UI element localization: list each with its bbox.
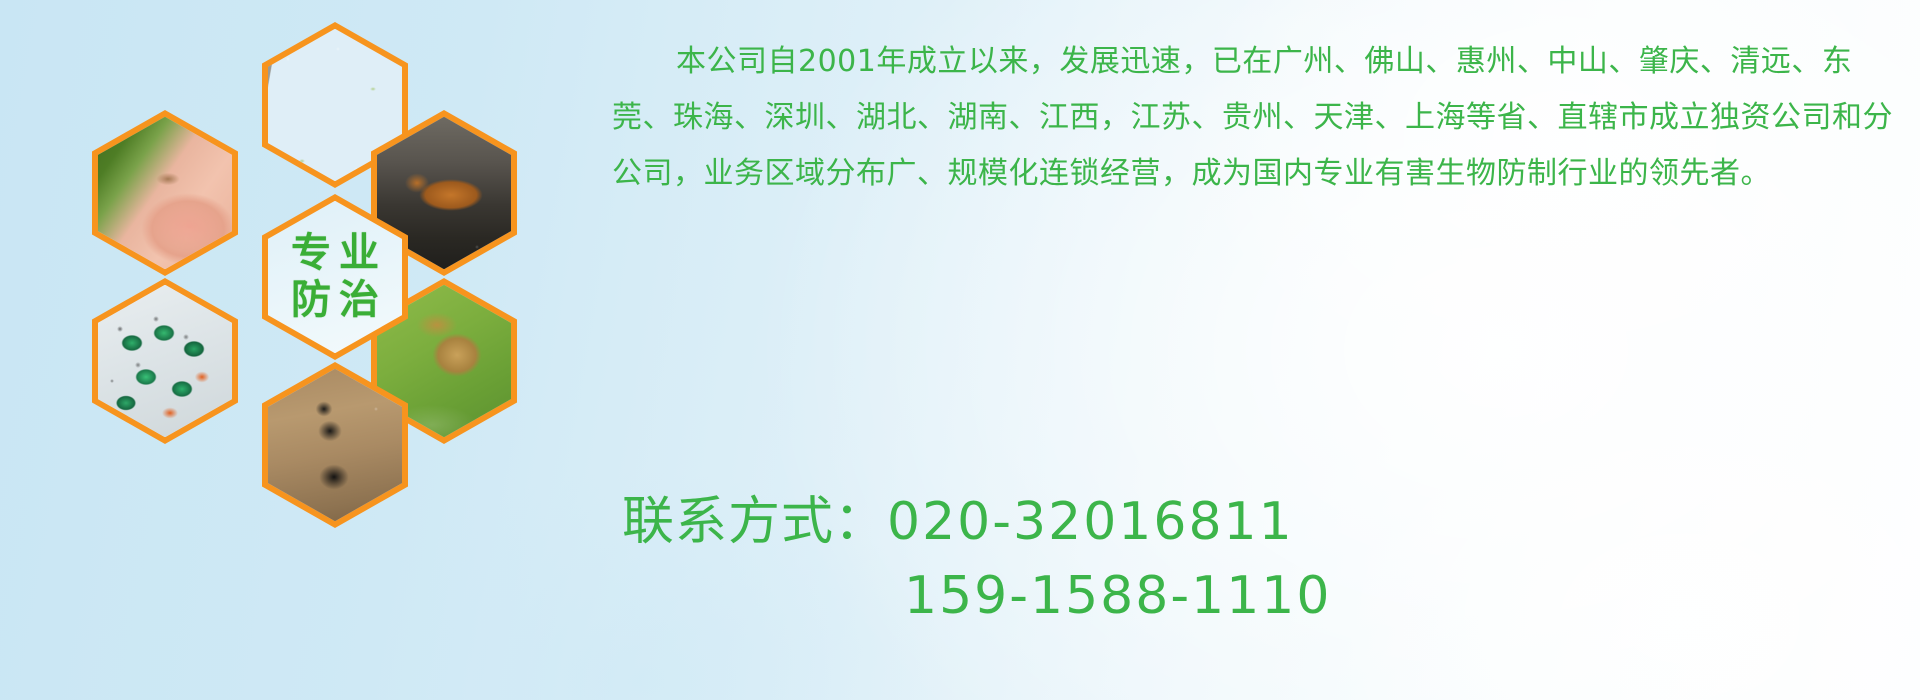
promo-banner: 专业 防治 本公司自2001年成立以来，发展迅速，已在广州、佛山、惠州、中山、肇… [0,0,1920,700]
hex-cell-mosquito [92,110,238,276]
hex-inner-center-title: 专业 防治 [268,201,402,353]
contact-line-mobile: 159-1588-1110 [622,559,1822,633]
contact-block: 联系方式：020-32016811 159-1588-1110 [622,485,1822,633]
contact-label: 联系方式： [622,492,887,552]
flies-photo [98,285,232,437]
center-title-line-1: 专业 [283,230,387,277]
intro-copy-block: 本公司自2001年成立以来，发展迅速，已在广州、佛山、惠州、中山、肇庆、清远、东… [612,34,1908,202]
hex-inner-ant [268,369,402,521]
center-title-line-2: 防治 [283,277,387,324]
honeycomb-collage: 专业 防治 [86,6,586,566]
mosquito-photo [98,117,232,269]
ant-photo [268,369,402,521]
contact-line-landline: 联系方式：020-32016811 [622,485,1822,559]
contact-phone-mobile[interactable]: 159-1588-1110 [904,566,1331,626]
hex-cell-flies [92,278,238,444]
hex-inner-flies [98,285,232,437]
intro-paragraph: 本公司自2001年成立以来，发展迅速，已在广州、佛山、惠州、中山、肇庆、清远、东… [612,34,1908,202]
contact-phone-landline[interactable]: 020-32016811 [887,492,1294,552]
hex-inner-mosquito [98,117,232,269]
